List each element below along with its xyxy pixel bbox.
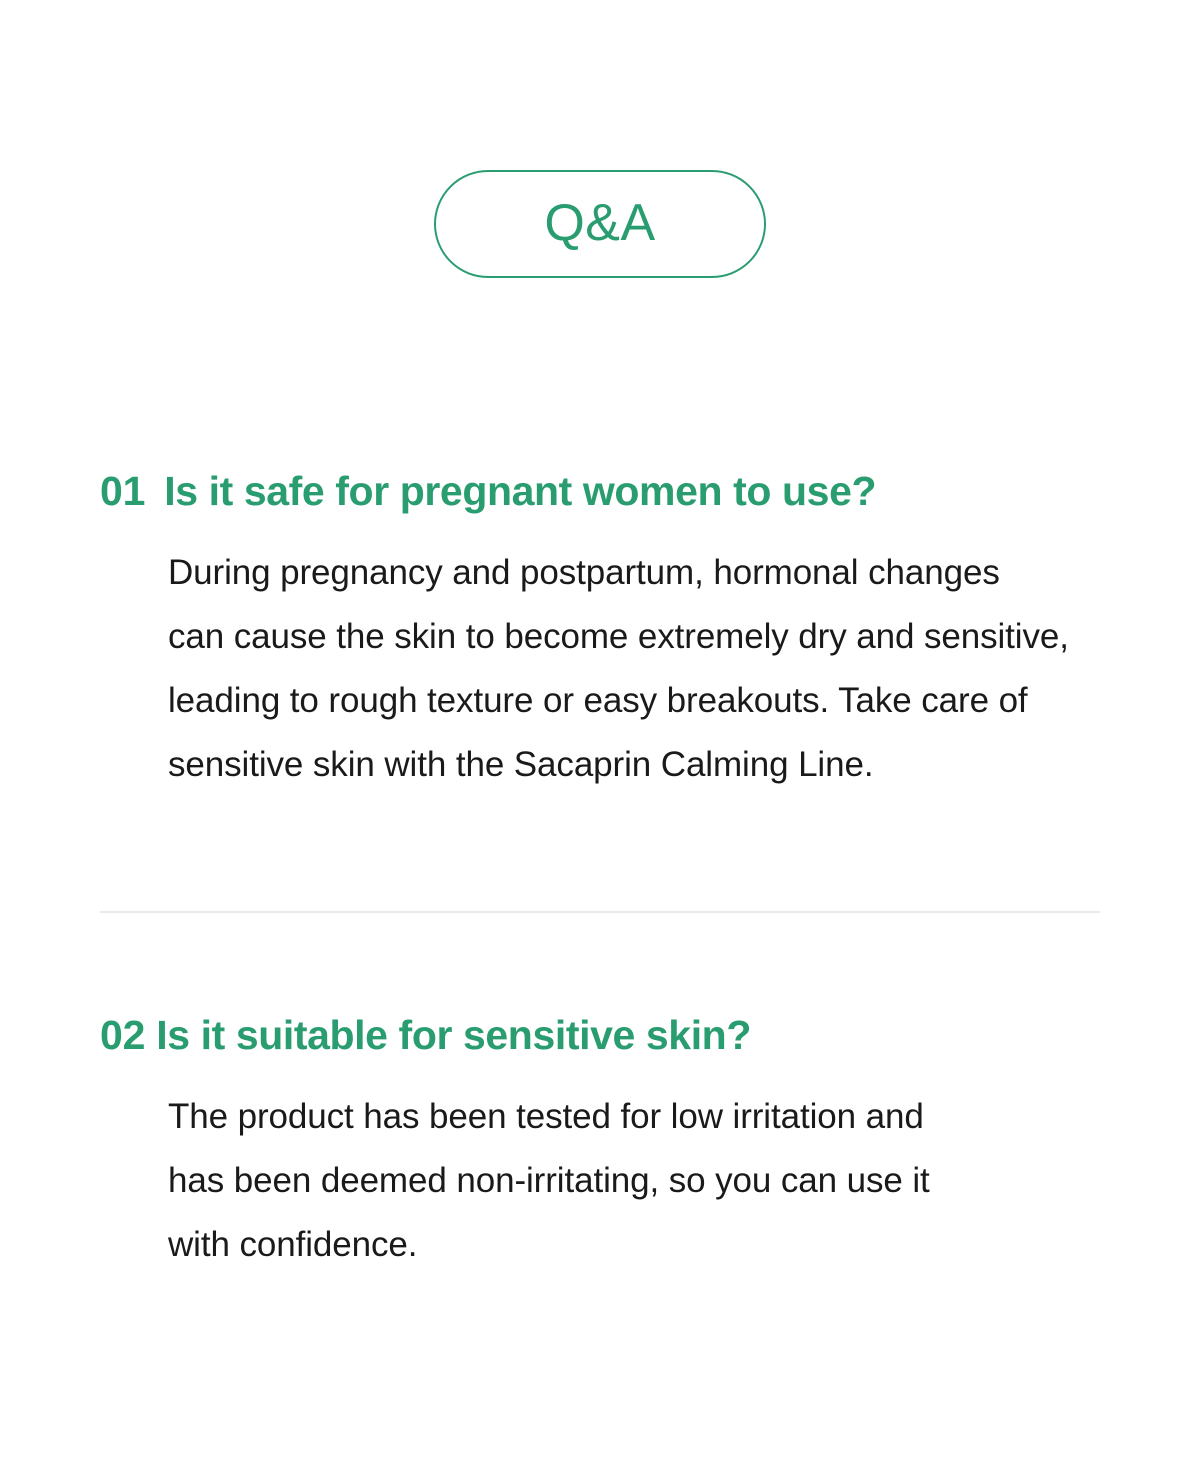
faq-question-text-01: Is it safe for pregnant women to use?	[145, 466, 876, 517]
faq-answer-line: leading to rough texture or easy breakou…	[168, 669, 1100, 733]
faq-answer-line: with confidence.	[168, 1213, 1100, 1277]
faq-answer-line: sensitive skin with the Sacaprin Calming…	[168, 733, 1100, 797]
faq-question-row-02: 02 Is it suitable for sensitive skin?	[100, 1010, 1100, 1061]
faq-item-02[interactable]: 02 Is it suitable for sensitive skin? Th…	[100, 1010, 1100, 1277]
faq-answer-line: During pregnancy and postpartum, hormona…	[168, 541, 1100, 605]
faq-answer-01: During pregnancy and postpartum, hormona…	[100, 541, 1100, 797]
faq-divider	[100, 911, 1100, 913]
faq-item-01[interactable]: 01 Is it safe for pregnant women to use?…	[100, 466, 1100, 797]
faq-number-02: 02	[100, 1010, 145, 1061]
faq-answer-line: has been deemed non-irritating, so you c…	[168, 1149, 1100, 1213]
qa-page: Q&A 01 Is it safe for pregnant women to …	[0, 0, 1200, 1464]
faq-number-01: 01	[100, 466, 145, 517]
faq-answer-02: The product has been tested for low irri…	[100, 1085, 1100, 1277]
faq-answer-line: can cause the skin to become extremely d…	[168, 605, 1100, 669]
faq-list: 01 Is it safe for pregnant women to use?…	[100, 466, 1100, 797]
faq-question-row-01: 01 Is it safe for pregnant women to use?	[100, 466, 1100, 517]
faq-question-text-02: Is it suitable for sensitive skin?	[145, 1010, 751, 1061]
faq-answer-line: The product has been tested for low irri…	[168, 1085, 1100, 1149]
badge-container: Q&A	[0, 170, 1200, 278]
qa-badge: Q&A	[434, 170, 766, 278]
